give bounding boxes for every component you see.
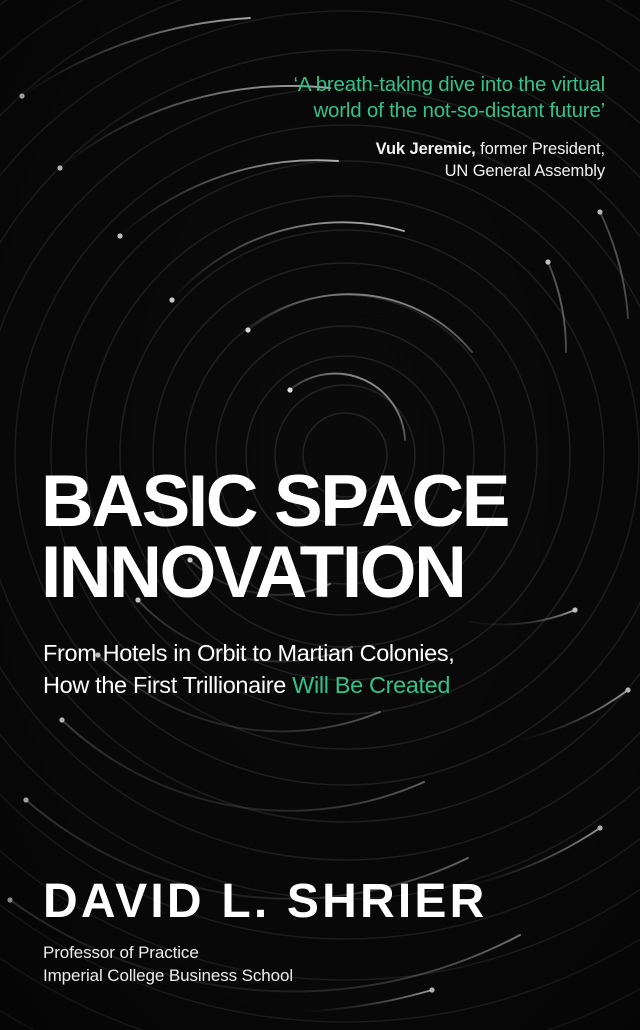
endorsement-attribution: Vuk Jeremic, former President, UN Genera… — [215, 138, 605, 182]
attributor-role: former President, — [476, 140, 605, 158]
title-line-2: INNOVATION — [41, 537, 601, 608]
attributor-name: Vuk Jeremic, — [376, 140, 476, 158]
book-title: BASIC SPACE INNOVATION — [41, 466, 601, 608]
endorsement-quote: ‘A breath-taking dive into the virtual w… — [215, 72, 605, 124]
title-line-1: BASIC SPACE — [41, 466, 601, 537]
subtitle-line-2-accent: Will Be Created — [292, 672, 450, 698]
author-block: DAVID L. SHRIER Professor of Practice Im… — [43, 876, 613, 987]
author-credentials: Professor of Practice Imperial College B… — [43, 942, 613, 987]
attributor-organisation: UN General Assembly — [215, 160, 605, 182]
subtitle-line-1: From Hotels in Orbit to Martian Colonies… — [43, 637, 613, 669]
author-name: DAVID L. SHRIER — [43, 876, 613, 928]
subtitle-line-2: How the First Trillionaire Will Be Creat… — [43, 669, 613, 701]
endorsement-block: ‘A breath-taking dive into the virtual w… — [215, 72, 605, 182]
subtitle-line-2-plain: How the First Trillionaire — [43, 672, 292, 698]
book-subtitle: From Hotels in Orbit to Martian Colonies… — [43, 637, 613, 701]
book-cover: ‘A breath-taking dive into the virtual w… — [0, 0, 640, 1030]
